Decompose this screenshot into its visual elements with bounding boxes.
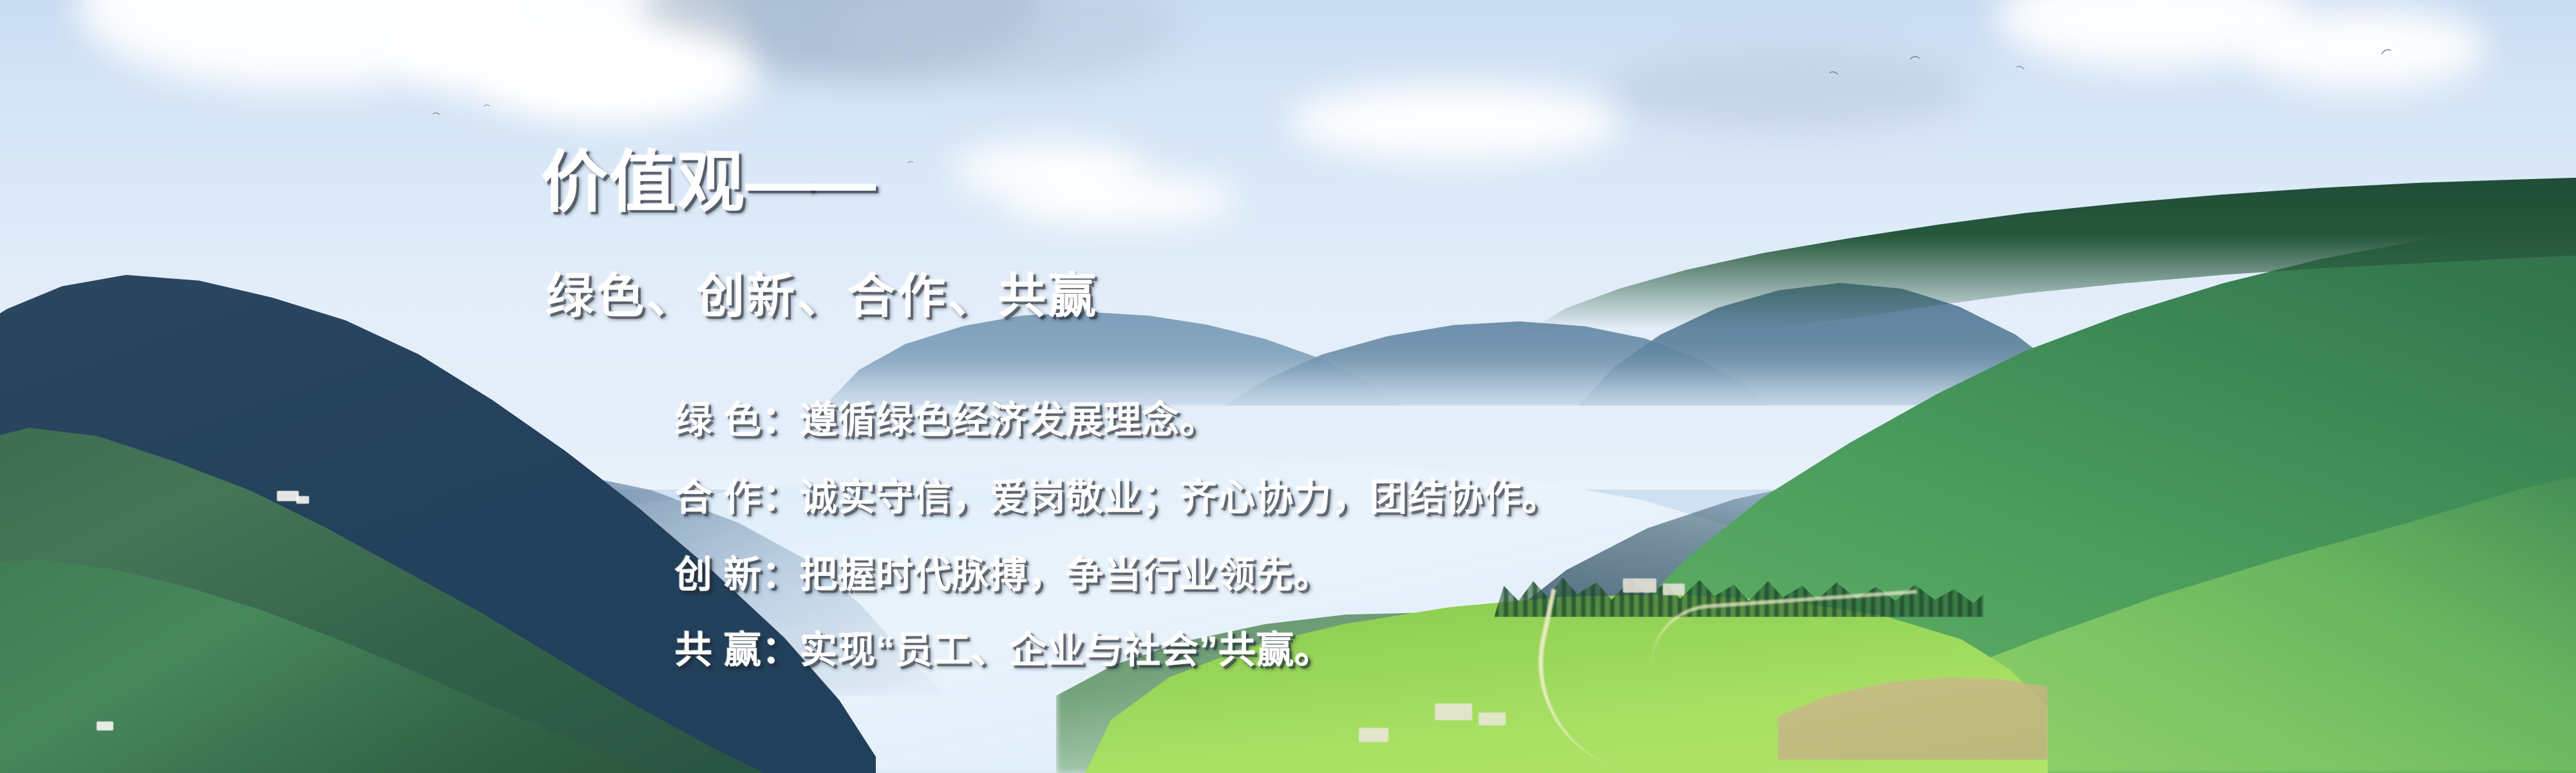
subtitle: 绿色、创新、合作、共赢: [546, 258, 1099, 327]
value-line-cooperation: 合 作：诚实守信，爱岗敬业；齐心协力，团结协作。: [675, 467, 1560, 521]
page-title: 价值观——: [541, 128, 872, 225]
value-line-green: 绿 色：遵循绿色经济发展理念。: [675, 390, 1218, 444]
value-line-innovation: 创 新：把握时代脉搏，争当行业领先。: [675, 544, 1332, 598]
title-dash: ——: [746, 146, 872, 220]
page-title-text: 价值观: [541, 146, 746, 220]
value-line-winwin: 共 赢：实现“员工、企业与社会”共赢。: [675, 620, 1332, 674]
slide-canvas: ︵ ︵ ︵ ︵ ︵ ︵ ︵ 价值观—— 绿色、创新、合作、共赢 绿 色：遵循绿色…: [0, 0, 2576, 773]
text-overlay: 价值观—— 绿色、创新、合作、共赢 绿 色：遵循绿色经济发展理念。 合 作：诚实…: [0, 0, 2576, 773]
